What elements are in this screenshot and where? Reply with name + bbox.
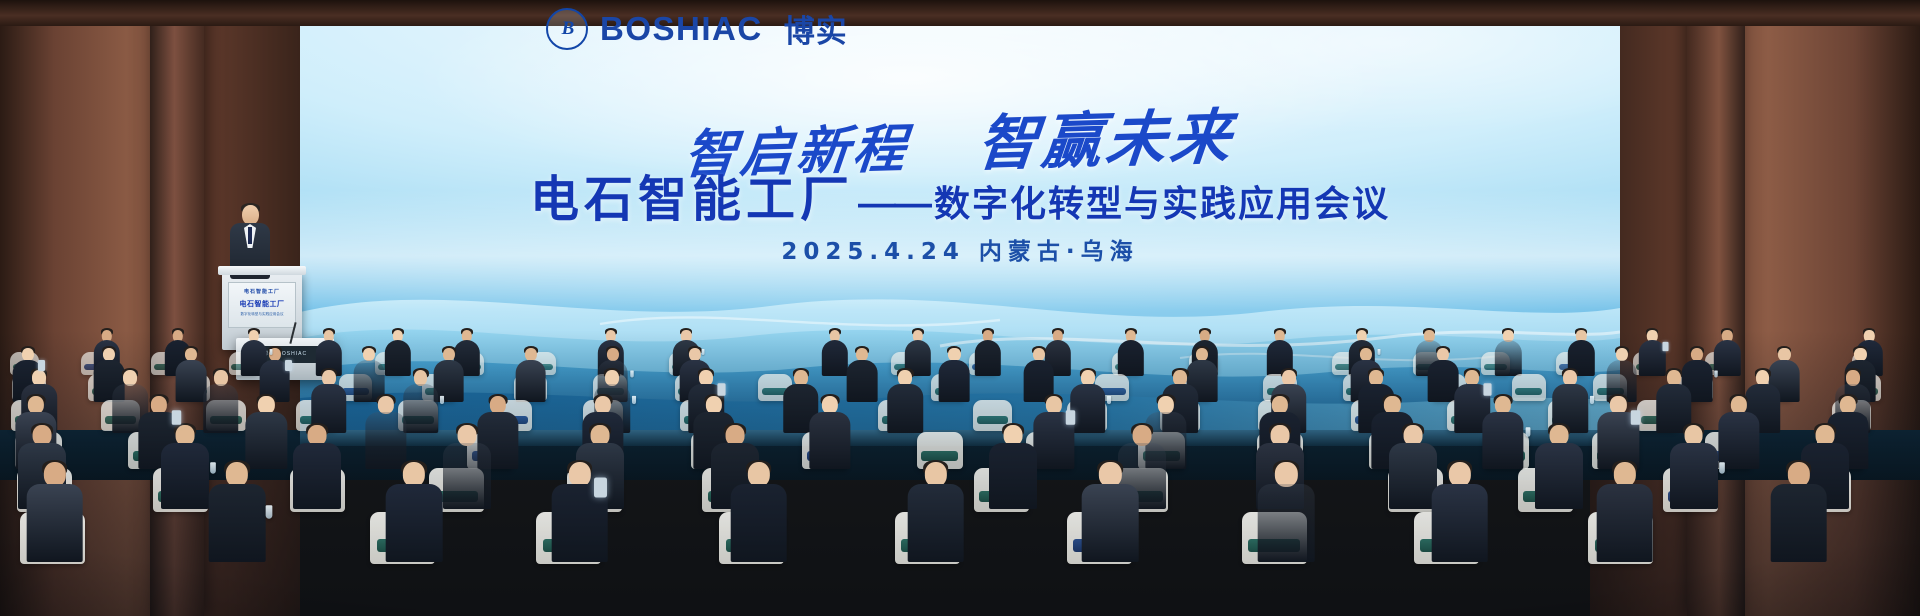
audience-member xyxy=(1714,330,1740,378)
audience-body xyxy=(1670,443,1718,509)
audience-body xyxy=(907,484,964,562)
audience-member xyxy=(365,396,406,471)
audience-body xyxy=(1082,484,1139,562)
emblem-letter: B xyxy=(562,18,573,40)
attendee-phone-icon xyxy=(594,478,607,498)
audience-member xyxy=(26,462,83,565)
audience-member xyxy=(1483,396,1524,471)
audience-body xyxy=(1389,443,1437,509)
audience-member xyxy=(907,462,964,565)
title-dash: —— xyxy=(858,183,930,226)
audience-body xyxy=(1535,443,1583,509)
water-glass xyxy=(269,349,272,355)
audience-body xyxy=(974,340,1000,376)
audience-member xyxy=(1258,462,1315,565)
audience-body xyxy=(1718,412,1759,469)
water-glass xyxy=(1525,427,1530,437)
audience-member xyxy=(989,425,1037,512)
chair-sash xyxy=(1515,388,1542,395)
attendee-phone-icon xyxy=(1662,342,1668,351)
speaker-head xyxy=(242,205,259,225)
audience-member xyxy=(1431,462,1488,565)
attendee-phone-icon xyxy=(38,360,45,371)
audience-member xyxy=(1535,425,1583,512)
audience-member xyxy=(515,348,546,404)
water-glass xyxy=(210,462,216,473)
water-glass xyxy=(440,396,444,404)
water-glass xyxy=(702,349,705,355)
audience-body xyxy=(809,412,850,469)
audience-body xyxy=(209,484,266,562)
audience-body xyxy=(730,484,787,562)
audience-member xyxy=(209,462,266,565)
audience-member xyxy=(822,330,848,378)
audience-body xyxy=(515,360,546,402)
conference-title: 电石智能工厂 —— 数字化转型与实践应用会议 xyxy=(300,160,1620,231)
conference-photo: B BOSHIAC 博实 智启新程 智赢未来 电石智能工厂 —— 数字化转型与实… xyxy=(0,0,1920,616)
audience-body xyxy=(1495,340,1521,376)
audience-member xyxy=(1718,396,1759,471)
column-right xyxy=(1687,0,1745,616)
audience-body xyxy=(1258,484,1315,562)
audience-member xyxy=(1770,462,1827,565)
attendee-phone-icon xyxy=(1066,410,1075,425)
audience-member xyxy=(1670,425,1718,512)
audience-member xyxy=(1598,396,1639,471)
water-glass xyxy=(1107,396,1111,404)
audience-member xyxy=(386,462,443,565)
audience-member xyxy=(730,462,787,565)
audience-member xyxy=(403,370,439,434)
audience-member xyxy=(1495,330,1521,378)
audience-member xyxy=(1117,330,1143,378)
audience-body xyxy=(1070,384,1106,433)
podium-top xyxy=(218,266,306,275)
podium-sign-line1: 电石智能工厂 xyxy=(229,288,295,295)
speaker-tie xyxy=(248,227,252,244)
audience-member xyxy=(1596,462,1653,565)
attendee-phone-icon xyxy=(171,410,180,425)
water-glass xyxy=(1719,462,1725,473)
water-glass xyxy=(266,505,273,518)
audience-member xyxy=(1082,462,1139,565)
boshiac-emblem-icon: B xyxy=(546,8,588,50)
title-main: 电石智能工厂 xyxy=(530,160,854,231)
audience-body xyxy=(1483,412,1524,469)
title-subtitle: 数字化转型与实践应用会议 xyxy=(934,175,1390,227)
audience-body xyxy=(293,443,341,509)
chair-sash xyxy=(921,451,958,461)
podium-sign-line3: 数字化转型与实践应用会议 xyxy=(229,312,295,317)
audience-member xyxy=(809,396,850,471)
audience-member xyxy=(1389,425,1437,512)
column-left xyxy=(150,0,204,616)
audience-body xyxy=(1770,484,1827,562)
audience-body xyxy=(176,360,207,402)
brand-chinese-name: 博实 xyxy=(784,6,848,51)
audience-body xyxy=(26,484,83,562)
brand-latin-name: BOSHIAC xyxy=(600,12,763,45)
audience-body xyxy=(1714,340,1740,376)
audience-body xyxy=(989,443,1037,509)
brand-logo: B BOSHIAC 博实 xyxy=(546,6,848,51)
audience-member xyxy=(1033,396,1074,471)
podium-sign-line2: 电石智能工厂 xyxy=(229,299,295,309)
audience-body xyxy=(822,340,848,376)
audience-member xyxy=(293,425,341,512)
audience-member xyxy=(161,425,209,512)
audience-body xyxy=(403,384,439,433)
podium-sign: 电石智能工厂 电石智能工厂 数字化转型与实践应用会议 xyxy=(228,282,296,328)
audience-member xyxy=(888,370,924,434)
attendee-phone-icon xyxy=(1631,410,1640,425)
attendee-phone-icon xyxy=(1484,383,1492,396)
audience-body xyxy=(246,412,287,469)
water-glass xyxy=(630,371,633,378)
water-glass xyxy=(632,396,636,404)
audience-body xyxy=(1117,340,1143,376)
audience-body xyxy=(888,384,924,433)
attendee-phone-icon xyxy=(285,360,292,371)
audience-body xyxy=(847,360,878,402)
audience-member xyxy=(1070,370,1106,434)
audience-body xyxy=(1431,484,1488,562)
conference-date-location: 2025.4.24 内蒙古·乌海 xyxy=(300,232,1620,266)
audience-member xyxy=(246,396,287,471)
water-glass xyxy=(1714,371,1717,378)
audience-member xyxy=(176,348,207,404)
water-glass xyxy=(1590,396,1594,404)
chair-sash xyxy=(977,416,1009,424)
attendee-phone-icon xyxy=(717,383,725,396)
audience-member xyxy=(847,348,878,404)
audience-member xyxy=(939,348,970,404)
audience-body xyxy=(939,360,970,402)
audience-body xyxy=(1596,484,1653,562)
audience-body xyxy=(386,484,443,562)
audience-member xyxy=(443,425,491,512)
ceiling-valance xyxy=(0,0,1920,26)
water-glass xyxy=(1377,349,1380,355)
audience-member xyxy=(974,330,1000,378)
audience-body xyxy=(161,443,209,509)
audience-body xyxy=(443,443,491,509)
audience-body xyxy=(365,412,406,469)
